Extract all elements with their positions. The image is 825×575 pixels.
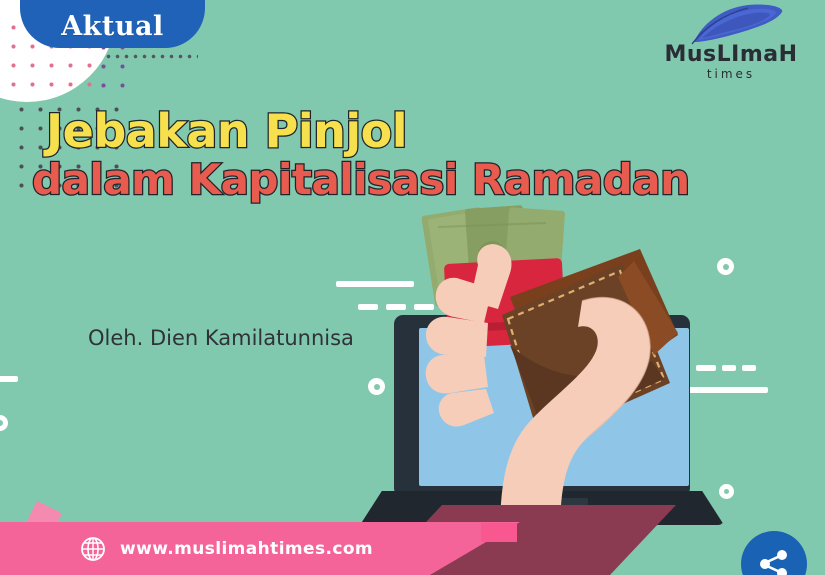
website-url[interactable]: www.muslimahtimes.com — [120, 539, 373, 559]
brand-name: MusLImaH — [661, 44, 801, 66]
dash-decoration — [0, 376, 18, 382]
brand-logo: MusLImaH times — [661, 2, 801, 86]
dot-row-decoration — [104, 52, 198, 62]
share-icon — [757, 547, 791, 575]
dash-decoration — [358, 304, 378, 310]
dash-decoration — [722, 365, 736, 371]
share-button[interactable] — [741, 531, 807, 575]
author-byline: Oleh. Dien Kamilatunnisa — [88, 326, 354, 350]
article-poster: Aktual MusLImaH times Jebakan Pinjol dal… — [0, 0, 825, 575]
globe-icon — [80, 536, 106, 562]
headline-group: Jebakan Pinjol dalam Kapitalisasi Ramada… — [46, 108, 690, 202]
aktual-badge: Aktual — [20, 0, 205, 48]
hand-wallet-illustration — [382, 205, 712, 535]
ring-decoration — [717, 258, 734, 275]
headline-line-2: dalam Kapitalisasi Ramadan — [32, 158, 690, 202]
footer-bar: www.muslimahtimes.com — [0, 522, 520, 575]
ring-decoration — [719, 484, 734, 499]
aktual-badge-label: Aktual — [61, 11, 164, 42]
pink-chip-decoration — [481, 523, 517, 542]
ring-decoration — [0, 415, 8, 431]
headline-line-1: Jebakan Pinjol — [46, 108, 690, 154]
brand-tagline: times — [661, 67, 801, 81]
dash-decoration — [742, 365, 756, 371]
